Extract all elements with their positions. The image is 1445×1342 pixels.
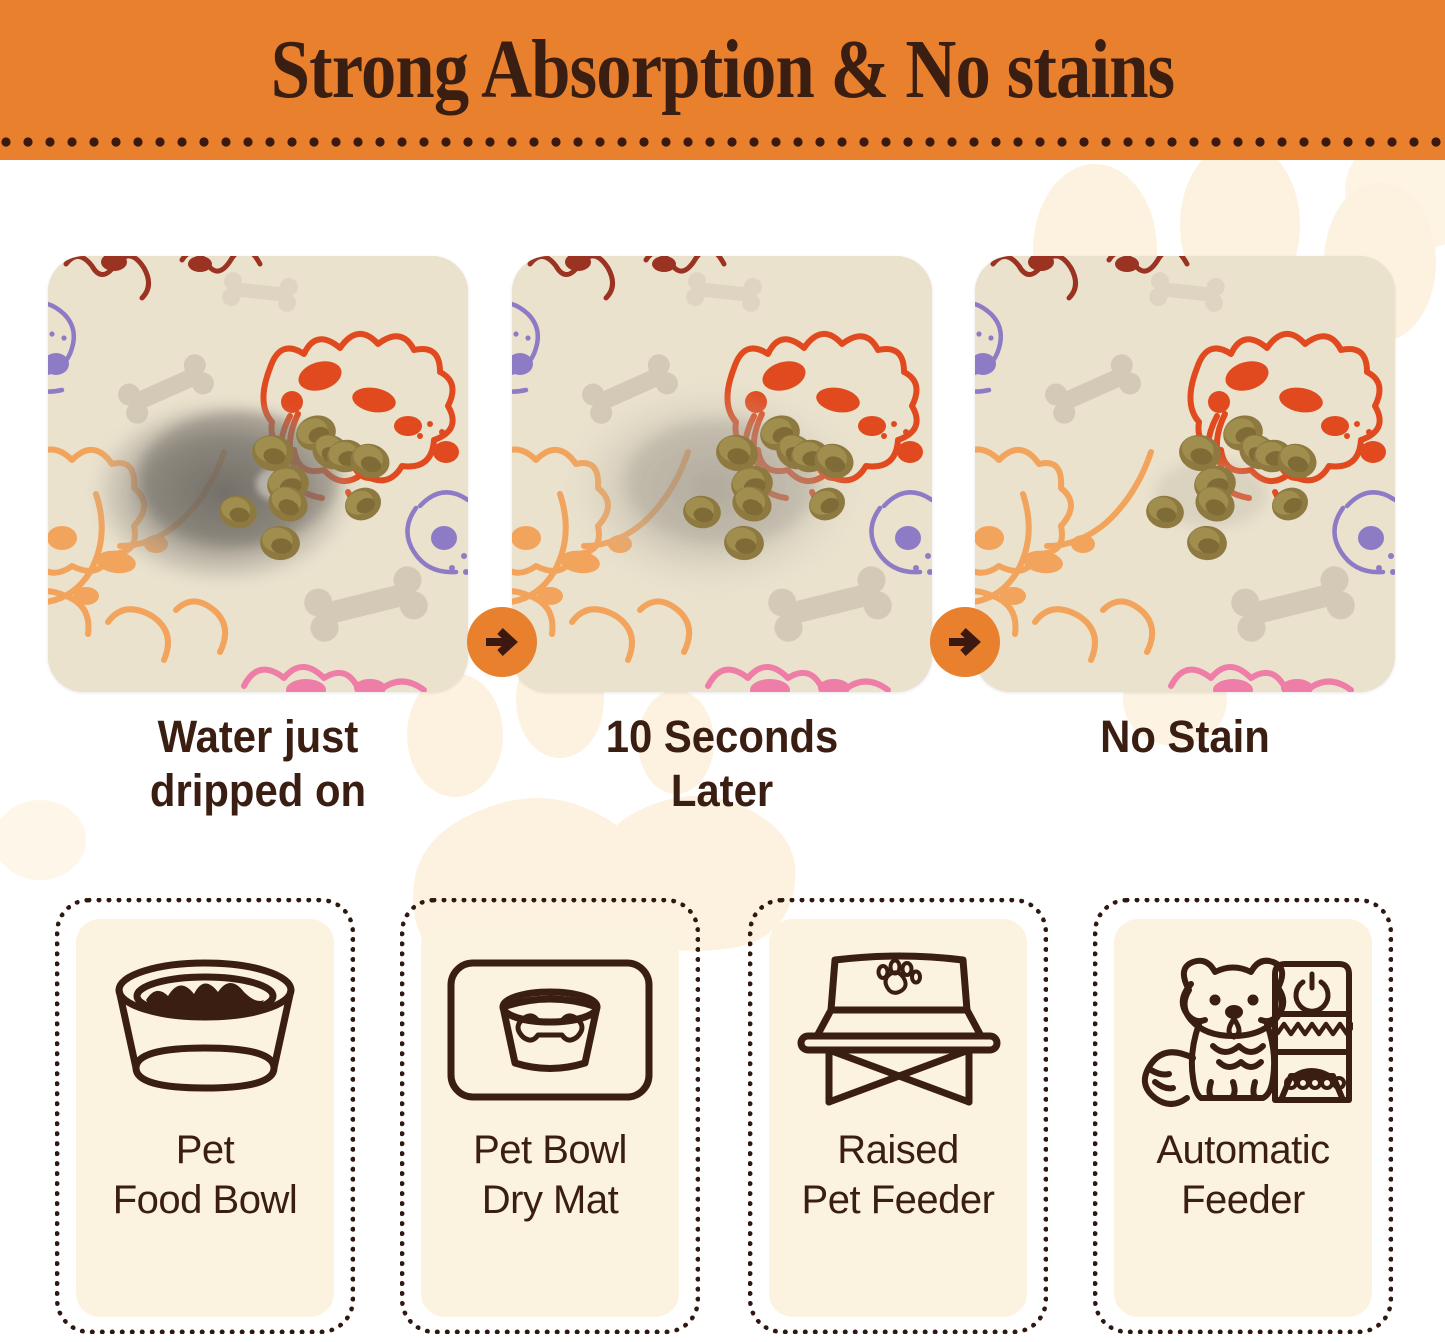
card-inner: Pet Food Bowl (76, 919, 334, 1317)
automatic-feeder-icon (1128, 945, 1358, 1115)
pet-food-bowl-icon (90, 945, 320, 1115)
mat-photo-dry (975, 256, 1395, 692)
page-title: Strong Absorption & No stains (116, 28, 1330, 112)
mat-photo-drying (512, 256, 932, 692)
use-case-card-raised-pet-feeder[interactable]: Raised Pet Feeder (748, 898, 1048, 1334)
card-label: Automatic Feeder (1156, 1125, 1329, 1225)
use-case-card-row: Pet Food Bowl (0, 890, 1445, 1342)
demo-caption-2: 10 Seconds Later (527, 710, 918, 818)
card-label: Raised Pet Feeder (802, 1125, 995, 1225)
use-case-card-pet-bowl-dry-mat[interactable]: Pet Bowl Dry Mat (400, 898, 700, 1334)
card-label: Pet Bowl Dry Mat (473, 1125, 627, 1225)
card-label: Pet Food Bowl (113, 1125, 297, 1225)
use-case-card-pet-food-bowl[interactable]: Pet Food Bowl (55, 898, 355, 1334)
demo-caption-1: Water just dripped on (63, 710, 454, 818)
use-case-card-automatic-feeder[interactable]: Automatic Feeder (1093, 898, 1393, 1334)
demo-photo-water-dripped (48, 256, 468, 692)
raised-pet-feeder-icon (783, 945, 1013, 1115)
mat-photo-wet (48, 256, 468, 692)
infographic-root: Strong Absorption & No stains (0, 0, 1445, 1342)
card-inner: Automatic Feeder (1114, 919, 1372, 1317)
header-dotted-divider (0, 136, 1445, 148)
demo-photo-no-stain (975, 256, 1395, 692)
demo-caption-3: No Stain (990, 710, 1381, 764)
pet-bowl-dry-mat-icon (435, 945, 665, 1115)
demo-photo-ten-seconds (512, 256, 932, 692)
absorption-demo-row (0, 160, 1445, 720)
card-inner: Raised Pet Feeder (769, 919, 1027, 1317)
arrow-right-icon-2 (930, 607, 1000, 677)
header-banner: Strong Absorption & No stains (0, 0, 1445, 160)
arrow-right-icon-1 (467, 607, 537, 677)
card-inner: Pet Bowl Dry Mat (421, 919, 679, 1317)
